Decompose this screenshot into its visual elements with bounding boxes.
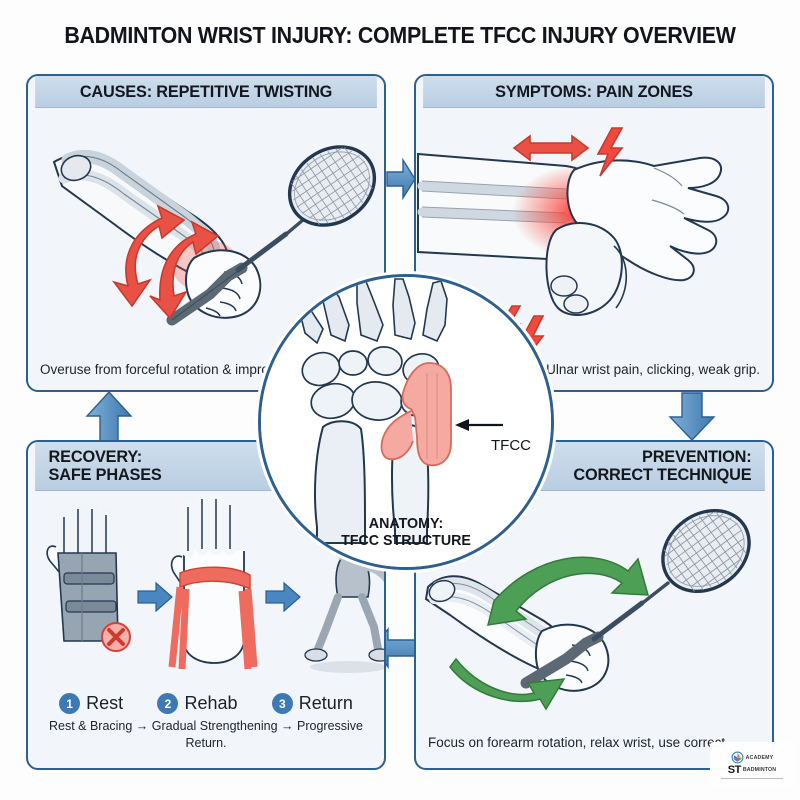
brand-logo: ACADEMY ST BADMINTON — [710, 742, 794, 788]
step-arrow-1 — [138, 583, 172, 611]
icon-wrist-brace — [47, 509, 118, 641]
logo-word-academy: ACADEMY — [746, 755, 774, 761]
center-caption-line2: TFCC STRUCTURE — [268, 532, 544, 549]
center-caption-line1: ANATOMY: — [268, 515, 544, 532]
logo-brand-st: ST — [728, 764, 741, 776]
icon-hand-band — [172, 499, 254, 669]
connector-recovery-to-causes — [84, 390, 136, 444]
logo-mark-icon — [731, 751, 744, 764]
tfcc-annotation-label: TFCC — [491, 437, 531, 454]
connector-symptoms-to-prevention — [664, 392, 720, 442]
infographic-canvas: BADMINTON WRIST INJURY: COMPLETE TFCC IN… — [0, 0, 800, 800]
panel-recovery-caption: Rest & Bracing → Gradual Strengthening →… — [28, 712, 384, 761]
step-arrow-2 — [266, 583, 300, 611]
connector-causes-to-symptoms — [386, 152, 416, 208]
page-title: BADMINTON WRIST INJURY: COMPLETE TFCC IN… — [28, 22, 772, 49]
logo-divider — [721, 778, 783, 779]
panel-causes-heading: CAUSES: REPETITIVE TWISTING — [35, 76, 377, 108]
panel-symptoms-heading: SYMPTOMS: PAIN ZONES — [423, 76, 765, 108]
center-anatomy-circle[interactable]: TFCC ANATOMY: TFCC STRUCTURE — [258, 274, 554, 570]
center-caption: ANATOMY: TFCC STRUCTURE — [268, 515, 544, 550]
logo-word-badminton: BADMINTON — [743, 767, 776, 773]
